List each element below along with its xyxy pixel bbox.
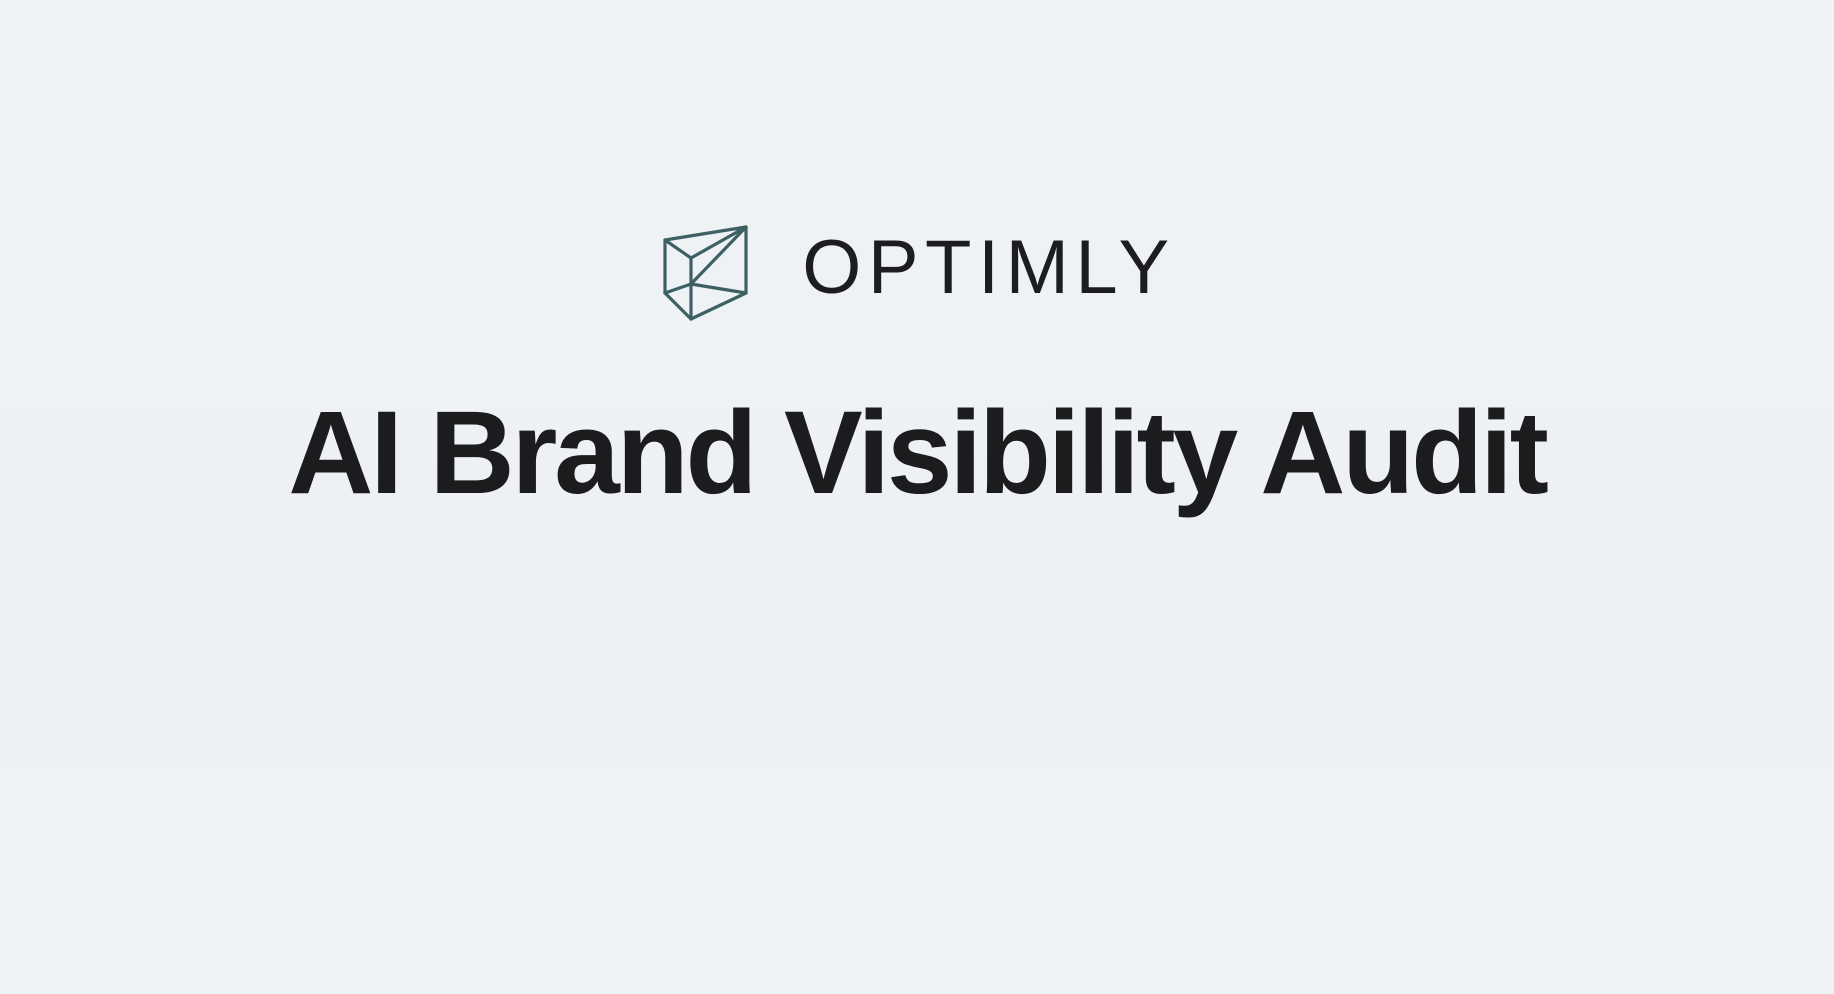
headline-container: AI Brand Visibility Audit — [0, 392, 1834, 515]
optimly-prism-logo-icon — [658, 207, 754, 325]
page-title: AI Brand Visibility Audit — [288, 392, 1545, 515]
brand-lockup: OPTIMLY — [0, 206, 1834, 326]
optimly-wordmark: OPTIMLY — [802, 230, 1175, 306]
title-slide: OPTIMLY AI Brand Visibility Audit — [0, 0, 1834, 994]
